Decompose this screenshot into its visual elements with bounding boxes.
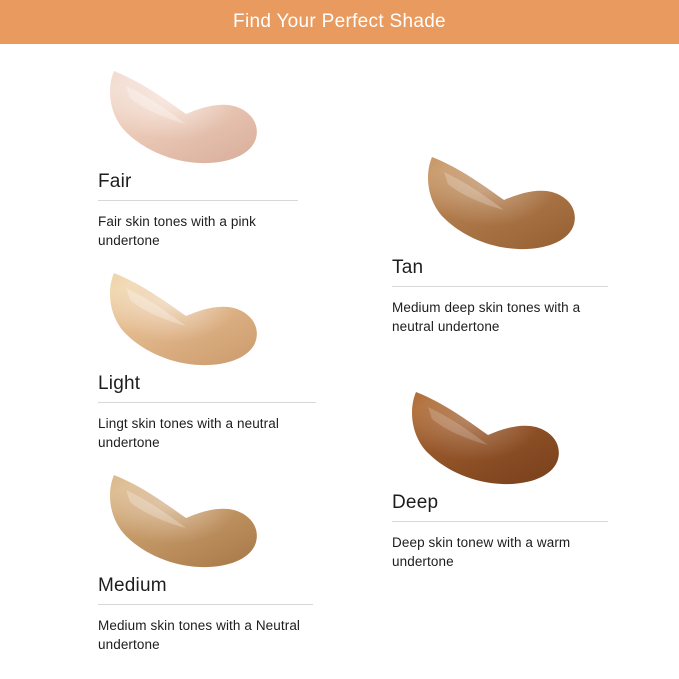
shade-description-light: Lingt skin tones with a neutral underton… bbox=[98, 403, 316, 452]
shade-description-deep: Deep skin tonew with a warm undertone bbox=[392, 522, 608, 571]
shade-card-tan[interactable]: Tan Medium deep skin tones with a neutra… bbox=[392, 148, 608, 336]
shade-name-deep: Deep bbox=[392, 491, 608, 521]
shade-card-medium[interactable]: Medium Medium skin tones with a Neutral … bbox=[98, 466, 313, 654]
shade-description-medium: Medium skin tones with a Neutral underto… bbox=[98, 605, 313, 654]
shade-card-fair[interactable]: Fair Fair skin tones with a pink underto… bbox=[98, 62, 298, 250]
shade-name-fair: Fair bbox=[98, 170, 298, 200]
foundation-swatch-icon bbox=[402, 383, 572, 491]
shade-card-light[interactable]: Light Lingt skin tones with a neutral un… bbox=[98, 264, 316, 452]
foundation-swatch-icon bbox=[100, 62, 270, 170]
shade-name-medium: Medium bbox=[98, 574, 313, 604]
foundation-swatch-icon bbox=[100, 466, 270, 574]
shade-description-tan: Medium deep skin tones with a neutral un… bbox=[392, 287, 608, 336]
shade-description-fair: Fair skin tones with a pink undertone bbox=[98, 201, 298, 250]
shade-name-light: Light bbox=[98, 372, 316, 402]
page-title: Find Your Perfect Shade bbox=[233, 11, 446, 33]
shade-card-deep[interactable]: Deep Deep skin tonew with a warm underto… bbox=[392, 383, 608, 571]
foundation-swatch-icon bbox=[418, 148, 588, 256]
page-header-banner: Find Your Perfect Shade bbox=[0, 0, 679, 44]
shade-name-tan: Tan bbox=[392, 256, 608, 286]
foundation-swatch-icon bbox=[100, 264, 270, 372]
